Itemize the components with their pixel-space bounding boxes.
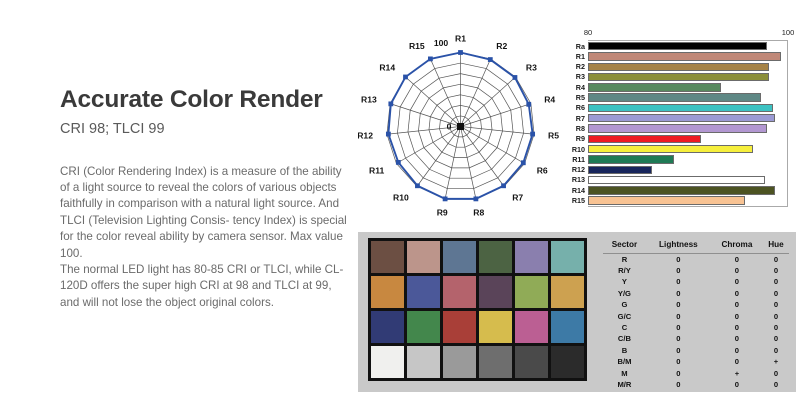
- table-cell-chroma: 0: [711, 265, 763, 276]
- color-swatch-r2c5: [515, 276, 548, 308]
- bar-fill-r4: [588, 83, 721, 91]
- radar-center-marker: [457, 123, 464, 130]
- table-cell-chroma: 0: [711, 322, 763, 333]
- color-swatch-r3c1: [371, 311, 404, 343]
- table-cell-sector: G/C: [603, 311, 646, 322]
- bar-fill-r6: [588, 104, 773, 112]
- table-cell-chroma: 0: [711, 345, 763, 356]
- bar-row: R12: [588, 165, 787, 175]
- bar-row: R4: [588, 82, 787, 92]
- table-cell-lightness: 0: [646, 300, 711, 311]
- color-swatch-r4c3: [443, 346, 476, 378]
- table-cell-hue: 0: [763, 254, 789, 266]
- table-row: R/Y000: [603, 265, 789, 276]
- radar-axis-label-r3: R3: [526, 63, 537, 73]
- color-checker-grid: [368, 238, 587, 381]
- color-swatch-r1c1: [371, 241, 404, 273]
- bar-row: Ra: [588, 41, 787, 51]
- radar-min-value-label: 0: [447, 122, 452, 132]
- column-header-lightness: Lightness: [646, 240, 711, 254]
- table-cell-chroma: 0: [711, 288, 763, 299]
- radar-axis-label-r7: R7: [512, 193, 523, 203]
- table-cell-sector: R: [603, 254, 646, 266]
- table-row: M/R000: [603, 379, 789, 390]
- color-swatch-r2c2: [407, 276, 440, 308]
- bar-row-label-r12: R12: [572, 166, 585, 173]
- table-cell-lightness: 0: [646, 277, 711, 288]
- table-row: B000: [603, 345, 789, 356]
- table-cell-sector: C/B: [603, 334, 646, 345]
- table-cell-sector: B/M: [603, 357, 646, 368]
- radar-axis-label-r13: R13: [361, 94, 377, 104]
- sector-table-body: R000R/Y000Y000Y/G000G000G/C000C000C/B000…: [603, 254, 789, 391]
- radar-axis-label-r5: R5: [548, 131, 559, 141]
- bar-fill-ra: [588, 42, 767, 50]
- table-cell-chroma: 0: [711, 254, 763, 266]
- bar-fill-r1: [588, 52, 781, 60]
- column-header-hue: Hue: [763, 240, 789, 254]
- radar-axis-label-r11: R11: [369, 166, 385, 176]
- table-cell-sector: M: [603, 368, 646, 379]
- bar-row-label-r11: R11: [572, 156, 585, 163]
- bar-fill-r12: [588, 166, 652, 174]
- table-cell-hue: 0: [763, 322, 789, 333]
- bar-row-label-r10: R10: [572, 146, 585, 153]
- bar-row-label-r4: R4: [576, 84, 585, 91]
- bar-fill-r8: [588, 124, 767, 132]
- table-header-row: Sector Lightness Chroma Hue: [603, 240, 789, 254]
- table-cell-chroma: 0: [711, 300, 763, 311]
- table-cell-lightness: 0: [646, 322, 711, 333]
- page-title: Accurate Color Render: [60, 86, 350, 114]
- table-cell-lightness: 0: [646, 345, 711, 356]
- bar-axis-tick-max: 100: [782, 28, 795, 37]
- radar-chart-svg: R1R2R3R4R5R6R7R8R9R10R11R12R13R14R15 100…: [358, 24, 563, 229]
- bar-row-label-r13: R13: [572, 176, 585, 183]
- page-subtitle: CRI 98; TLCI 99: [60, 121, 350, 138]
- bar-row-label-r14: R14: [572, 187, 585, 194]
- bar-row: R2: [588, 62, 787, 72]
- bar-axis-tick-min: 80: [584, 28, 592, 37]
- bar-row: R1: [588, 51, 787, 61]
- radar-axis-label-r4: R4: [544, 94, 555, 104]
- body-paragraph-2: The normal LED light has 80-85 CRI or TL…: [60, 262, 350, 311]
- table-row: M0+0: [603, 368, 789, 379]
- bar-row: R10: [588, 144, 787, 154]
- table-cell-lightness: 0: [646, 311, 711, 322]
- bar-row-label-r6: R6: [576, 104, 585, 111]
- bar-fill-r7: [588, 114, 775, 122]
- radar-axis-label-r10: R10: [393, 193, 409, 203]
- color-swatch-r2c6: [551, 276, 584, 308]
- table-row: B/M00+: [603, 357, 789, 368]
- table-cell-hue: 0: [763, 334, 789, 345]
- table-cell-chroma: 0: [711, 334, 763, 345]
- table-cell-sector: B: [603, 345, 646, 356]
- body-paragraph-1: CRI (Color Rendering Index) is a measure…: [60, 164, 350, 262]
- table-cell-sector: M/R: [603, 379, 646, 390]
- table-cell-sector: C: [603, 322, 646, 333]
- bar-row-label-r15: R15: [572, 197, 585, 204]
- bar-chart-plot-area: RaR1R2R3R4R5R6R7R8R9R10R11R12R13R14R15: [588, 40, 788, 207]
- sector-table-panel: Sector Lightness Chroma Hue R000R/Y000Y0…: [596, 232, 796, 392]
- table-cell-chroma: +: [711, 368, 763, 379]
- feature-text-panel: Accurate Color Render CRI 98; TLCI 99 CR…: [60, 86, 350, 311]
- color-swatch-r4c2: [407, 346, 440, 378]
- bar-row: R6: [588, 103, 787, 113]
- table-cell-lightness: 0: [646, 254, 711, 266]
- table-row: G000: [603, 300, 789, 311]
- bar-fill-r11: [588, 155, 674, 163]
- bar-fill-r2: [588, 63, 769, 71]
- column-header-chroma: Chroma: [711, 240, 763, 254]
- color-checker-panel: [358, 232, 596, 392]
- table-row: G/C000: [603, 311, 789, 322]
- color-swatch-r4c6: [551, 346, 584, 378]
- color-swatch-r2c3: [443, 276, 476, 308]
- color-swatch-r3c6: [551, 311, 584, 343]
- table-row: Y/G000: [603, 288, 789, 299]
- bar-fill-r5: [588, 93, 761, 101]
- bar-fill-r13: [588, 176, 765, 184]
- bar-row-label-r7: R7: [576, 115, 585, 122]
- bar-fill-r3: [588, 73, 769, 81]
- table-row: C/B000: [603, 334, 789, 345]
- radar-axis-label-r9: R9: [437, 208, 448, 218]
- table-cell-lightness: 0: [646, 379, 711, 390]
- table-cell-hue: 0: [763, 265, 789, 276]
- table-cell-chroma: 0: [711, 311, 763, 322]
- table-cell-lightness: 0: [646, 288, 711, 299]
- radar-axis-label-r2: R2: [496, 41, 507, 51]
- color-swatch-r3c3: [443, 311, 476, 343]
- bar-row: R13: [588, 175, 787, 185]
- bar-row: R5: [588, 92, 787, 102]
- cri-bar-chart: 80 100 RaR1R2R3R4R5R6R7R8R9R10R11R12R13R…: [562, 28, 794, 228]
- bar-row-label-r1: R1: [576, 53, 585, 60]
- table-cell-hue: 0: [763, 277, 789, 288]
- table-cell-hue: 0: [763, 368, 789, 379]
- sector-table: Sector Lightness Chroma Hue R000R/Y000Y0…: [603, 240, 789, 391]
- color-swatch-r2c1: [371, 276, 404, 308]
- bar-row: R15: [588, 195, 787, 205]
- color-swatch-r1c3: [443, 241, 476, 273]
- radar-axis-label-r6: R6: [537, 166, 548, 176]
- bar-fill-r9: [588, 135, 701, 143]
- table-cell-sector: Y/G: [603, 288, 646, 299]
- table-cell-hue: 0: [763, 379, 789, 390]
- table-cell-hue: +: [763, 357, 789, 368]
- color-swatch-r4c4: [479, 346, 512, 378]
- bar-row-label-r5: R5: [576, 94, 585, 101]
- table-cell-sector: Y: [603, 277, 646, 288]
- color-swatch-r1c2: [407, 241, 440, 273]
- bar-row-label-r2: R2: [576, 63, 585, 70]
- color-swatch-r2c4: [479, 276, 512, 308]
- bar-row-label-r8: R8: [576, 125, 585, 132]
- bar-row: R7: [588, 113, 787, 123]
- table-cell-lightness: 0: [646, 265, 711, 276]
- table-cell-hue: 0: [763, 300, 789, 311]
- table-cell-hue: 0: [763, 311, 789, 322]
- cri-radar-chart: R1R2R3R4R5R6R7R8R9R10R11R12R13R14R15 100…: [358, 24, 563, 229]
- bar-fill-r14: [588, 186, 775, 194]
- radar-axis-label-r14: R14: [379, 63, 395, 73]
- bar-row-label-r9: R9: [576, 135, 585, 142]
- radar-axis-label-r15: R15: [409, 41, 425, 51]
- body-copy: CRI (Color Rendering Index) is a measure…: [60, 164, 350, 312]
- table-cell-sector: G: [603, 300, 646, 311]
- color-swatch-r3c4: [479, 311, 512, 343]
- color-swatch-r4c1: [371, 346, 404, 378]
- table-cell-chroma: 0: [711, 357, 763, 368]
- table-row: R000: [603, 254, 789, 266]
- table-cell-lightness: 0: [646, 357, 711, 368]
- bar-row: R9: [588, 134, 787, 144]
- bar-row: R11: [588, 154, 787, 164]
- radar-axis-label-r12: R12: [358, 131, 373, 141]
- color-swatch-r1c4: [479, 241, 512, 273]
- column-header-sector: Sector: [603, 240, 646, 254]
- table-cell-chroma: 0: [711, 379, 763, 390]
- table-row: C000: [603, 322, 789, 333]
- color-swatch-r1c5: [515, 241, 548, 273]
- bar-row-label-ra: Ra: [576, 43, 585, 50]
- table-cell-lightness: 0: [646, 368, 711, 379]
- color-swatch-r3c2: [407, 311, 440, 343]
- table-cell-hue: 0: [763, 288, 789, 299]
- table-cell-sector: R/Y: [603, 265, 646, 276]
- bar-row: R3: [588, 72, 787, 82]
- bar-row: R14: [588, 185, 787, 195]
- bar-row: R8: [588, 123, 787, 133]
- color-swatch-r3c5: [515, 311, 548, 343]
- table-row: Y000: [603, 277, 789, 288]
- bar-fill-r15: [588, 196, 745, 204]
- bar-row-label-r3: R3: [576, 73, 585, 80]
- bar-fill-r10: [588, 145, 753, 153]
- table-cell-lightness: 0: [646, 334, 711, 345]
- color-swatch-r4c5: [515, 346, 548, 378]
- color-swatch-r1c6: [551, 241, 584, 273]
- radar-axis-label-r1: R1: [455, 34, 466, 44]
- radar-axis-label-r8: R8: [473, 208, 484, 218]
- table-cell-hue: 0: [763, 345, 789, 356]
- bar-chart-axis: 80 100: [588, 28, 788, 40]
- table-cell-chroma: 0: [711, 277, 763, 288]
- radar-max-value-label: 100: [434, 38, 449, 48]
